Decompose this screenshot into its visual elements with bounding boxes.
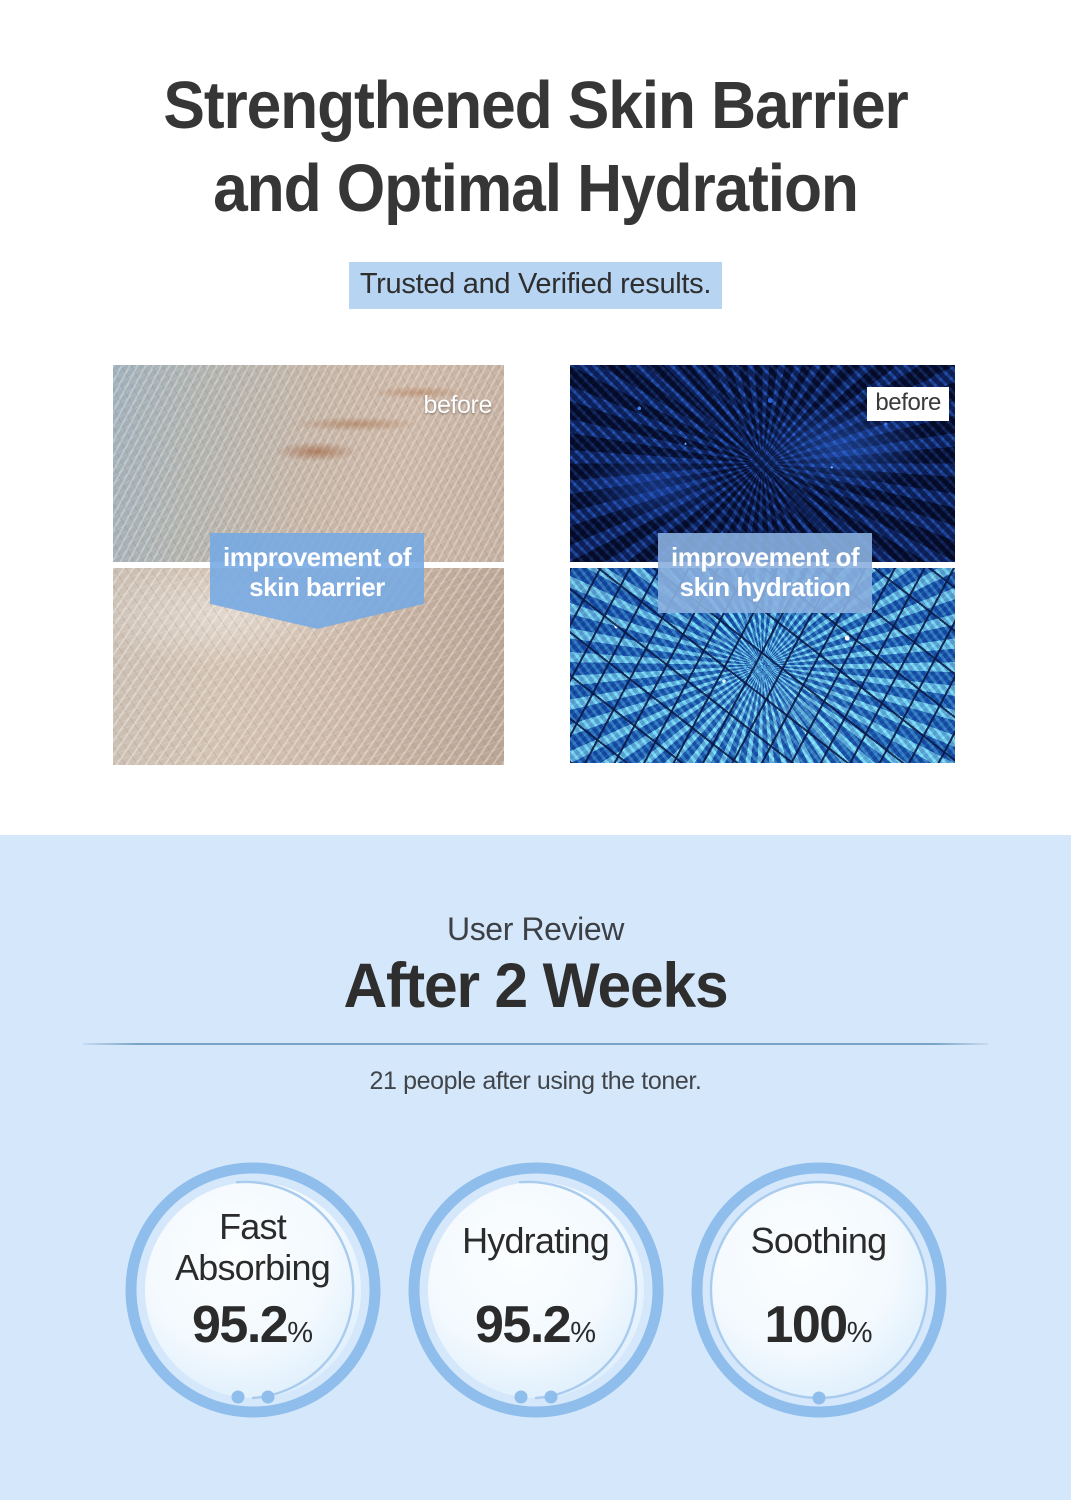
review-title: After 2 Weeks (21, 950, 1049, 1022)
section-divider (83, 1043, 988, 1045)
stat-label-line-1: Hydrating (401, 1221, 671, 1262)
page-title-line-1: Strengthened Skin Barrier (37, 64, 1033, 147)
stat-label-0: Fast Absorbing (118, 1207, 388, 1288)
stat-unit-1: % (570, 1317, 596, 1349)
stat-label-line-1: Fast (118, 1207, 388, 1248)
subtitle-highlight: Trusted and Verified results. (349, 262, 722, 309)
stat-number-2: 100 (764, 1296, 846, 1354)
badge-line-1: improvement of (662, 542, 868, 572)
stat-number-1: 95.2 (475, 1296, 570, 1354)
hero-section: Strengthened Skin Barrier and Optimal Hy… (0, 0, 1071, 835)
before-image-skin-barrier: before (113, 365, 504, 562)
stat-ring-graphic-1 (401, 1155, 671, 1425)
stat-label-1: Hydrating (401, 1221, 671, 1262)
stat-number-0: 95.2 (192, 1296, 287, 1354)
subtitle-container: Trusted and Verified results. (0, 262, 1071, 309)
before-label-right: before (867, 387, 949, 421)
stat-circle-group: Fast Absorbing 95.2% Hydrating (0, 1155, 1071, 1425)
stat-circle-soothing: Soothing 100% (684, 1155, 954, 1425)
review-kicker: User Review (0, 911, 1071, 948)
stat-value-0: 95.2% (118, 1295, 388, 1355)
stat-unit-2: % (847, 1317, 873, 1349)
stat-unit-0: % (287, 1317, 313, 1349)
badge-skin-hydration: improvement of skin hydration (658, 533, 872, 613)
page-title: Strengthened Skin Barrier and Optimal Hy… (37, 64, 1033, 230)
stat-ring-graphic-2 (684, 1155, 954, 1425)
comparison-panel-skin-barrier: before after 2 weeks improvement of skin… (113, 365, 504, 765)
comparison-panel-skin-hydration: before after improvement of skin hydrati… (570, 365, 955, 763)
stat-value-1: 95.2% (401, 1295, 671, 1355)
badge-line-2: skin barrier (214, 572, 420, 602)
badge-line-1: improvement of (214, 542, 420, 572)
stat-label-line-2: Absorbing (118, 1248, 388, 1289)
stat-label-2: Soothing (684, 1221, 954, 1262)
before-label-left: before (424, 391, 493, 420)
stat-value-2: 100% (684, 1295, 954, 1355)
page-title-line-2: and Optimal Hydration (37, 147, 1033, 230)
badge-line-2: skin hydration (662, 572, 868, 602)
stat-ring-graphic-0 (118, 1155, 388, 1425)
stat-circle-hydrating: Hydrating 95.2% (401, 1155, 671, 1425)
stat-label-line-1: Soothing (684, 1221, 954, 1262)
review-note: 21 people after using the toner. (0, 1067, 1071, 1096)
stat-circle-fast-absorbing: Fast Absorbing 95.2% (118, 1155, 388, 1425)
